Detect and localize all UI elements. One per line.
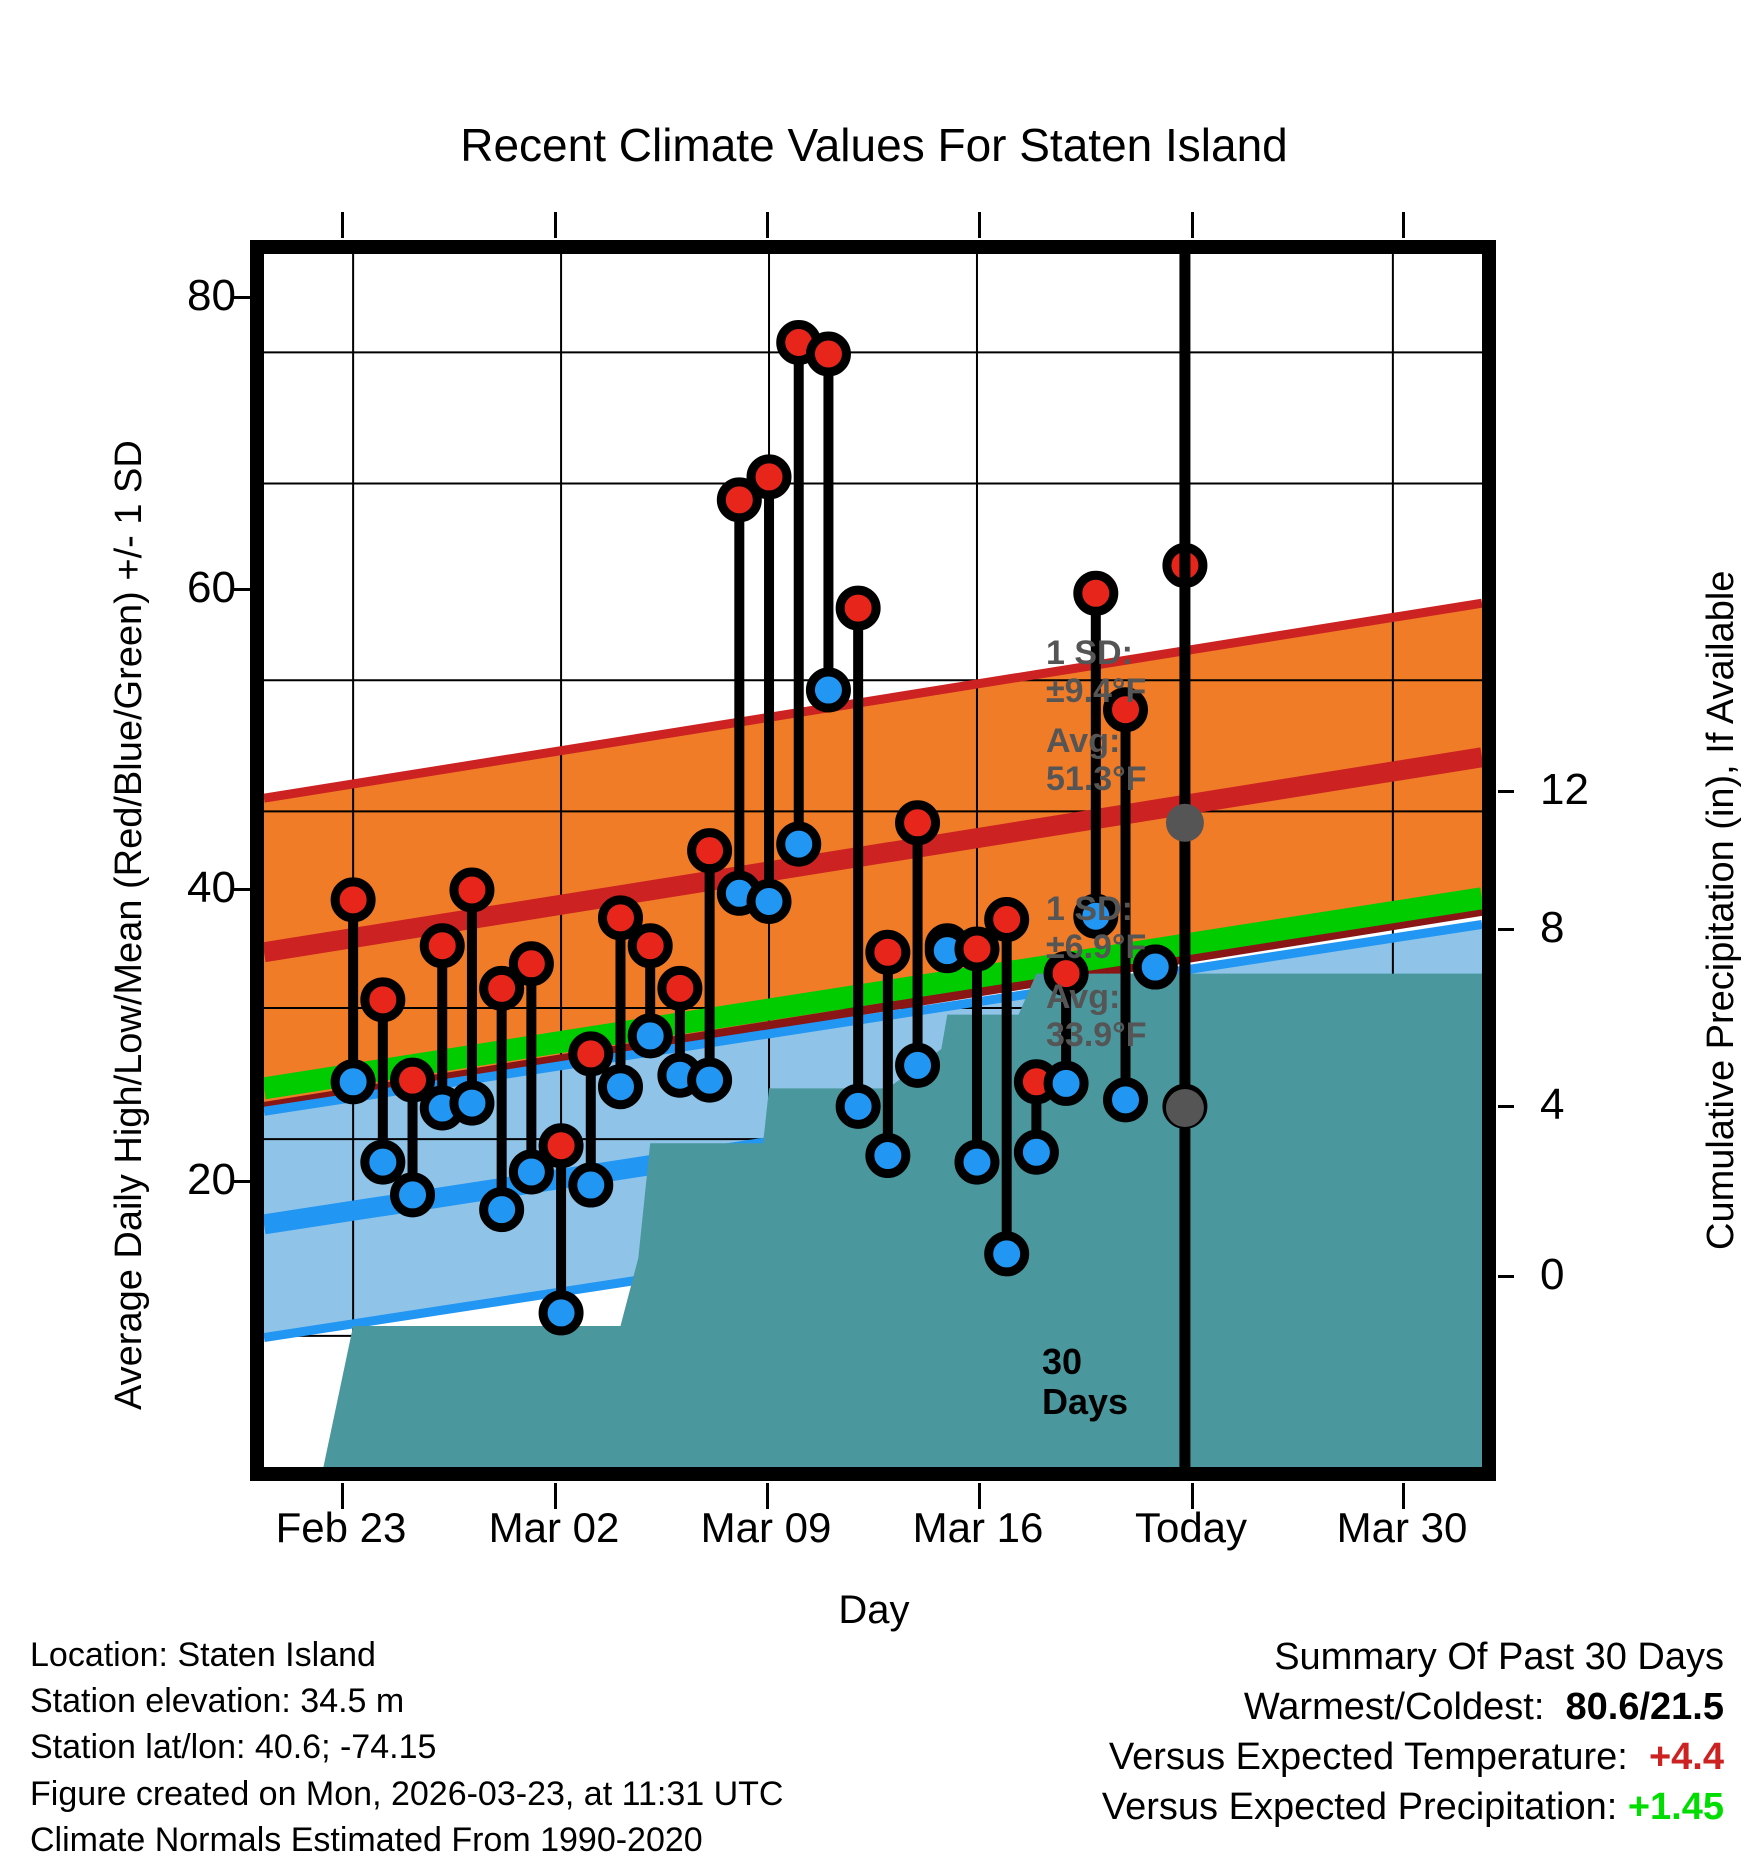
tick-mark-bottom-mar-30 [1402, 1483, 1405, 1509]
climate-normals: Climate Normals Estimated From 1990-2020 [30, 1817, 783, 1863]
low-avg-annotation: Avg: 33.9°F [1046, 978, 1147, 1054]
low-sd-annotation: 1 SD: ±6.9°F [1046, 890, 1146, 966]
high-avg-label: Avg: [1046, 722, 1120, 760]
summary-extremes-value: 80.6/21.5 [1566, 1686, 1724, 1728]
high-avg-annotation: Avg: 51.3°F [1046, 722, 1147, 798]
y-tick-right-0: 0 [1540, 1250, 1564, 1300]
summary-extremes-row: Warmest/Coldest: 80.6/21.5 [1102, 1682, 1724, 1732]
tick-mark-bottom-feb-23 [341, 1483, 344, 1509]
summary-precip-label: Versus Expected Precipitation: [1102, 1786, 1617, 1828]
tick-mark-left-40 [234, 888, 250, 891]
station-info-block: Location: Staten Island Station elevatio… [30, 1632, 783, 1863]
tick-mark-top-today [1191, 212, 1194, 238]
summary-heading: Summary Of Past 30 Days [1102, 1632, 1724, 1682]
window-label-line2: Days [1042, 1381, 1128, 1422]
tick-mark-top-mar-09 [766, 212, 769, 238]
tick-mark-top-mar-02 [554, 212, 557, 238]
station-location: Location: Staten Island [30, 1632, 783, 1678]
y-tick-left-80: 80 [187, 271, 236, 321]
x-tick-mar-02: Mar 02 [489, 1504, 620, 1552]
tick-mark-bottom-mar-16 [978, 1483, 981, 1509]
y-tick-left-20: 20 [187, 1155, 236, 1205]
tick-mark-left-80 [234, 296, 250, 299]
station-elevation: Station elevation: 34.5 m [30, 1678, 783, 1724]
figure-canvas: Recent Climate Values For Staten Island … [0, 0, 1748, 1828]
summary-precip-row: Versus Expected Precipitation: +1.45 [1102, 1782, 1724, 1832]
summary-temp-row: Versus Expected Temperature: +4.4 [1102, 1732, 1724, 1782]
tick-mark-left-20 [234, 1180, 250, 1183]
tick-mark-right-0 [1498, 1275, 1514, 1278]
summary-temp-value: +4.4 [1649, 1736, 1724, 1778]
y-tick-left-60: 60 [187, 563, 236, 613]
tick-mark-right-4 [1498, 1105, 1514, 1108]
chart-title: Recent Climate Values For Staten Island [0, 118, 1748, 172]
plot-area: 1 SD: ±9.4°F Avg: 51.3°F 1 SD: ±6.9°F Av… [250, 240, 1496, 1481]
summary-extremes-label: Warmest/Coldest: [1244, 1686, 1545, 1728]
summary-block: Summary Of Past 30 Days Warmest/Coldest:… [1102, 1632, 1724, 1833]
high-sd-value: ±9.4°F [1046, 672, 1146, 710]
x-tick-mar-09: Mar 09 [701, 1504, 832, 1552]
low-avg-label: Avg: [1046, 978, 1120, 1016]
x-tick-feb-23: Feb 23 [276, 1504, 407, 1552]
y-axis-label-left: Average Daily High/Low/Mean (Red/Blue/Gr… [108, 440, 151, 1410]
high-avg-value: 51.3°F [1046, 760, 1147, 798]
summary-precip-value: +1.45 [1628, 1786, 1724, 1828]
x-tick-mar-16: Mar 16 [913, 1504, 1044, 1552]
window-annotation: 30 Days [1042, 1342, 1128, 1421]
tick-mark-top-mar-30 [1402, 212, 1405, 238]
tick-mark-top-mar-16 [978, 212, 981, 238]
tick-mark-bottom-mar-09 [766, 1483, 769, 1509]
station-latlon: Station lat/lon: 40.6; -74.15 [30, 1724, 783, 1770]
high-sd-label: 1 SD: [1046, 634, 1133, 672]
y-tick-right-12: 12 [1540, 765, 1589, 815]
tick-mark-top-feb-23 [341, 212, 344, 238]
low-sd-value: ±6.9°F [1046, 928, 1146, 966]
low-avg-value: 33.9°F [1046, 1016, 1147, 1054]
plot-graphics [264, 254, 1482, 1467]
tick-mark-right-12 [1498, 790, 1514, 793]
y-axis-label-right: Cumulative Precipitation (in), If Availa… [1700, 571, 1743, 1250]
low-sd-label: 1 SD: [1046, 890, 1133, 928]
window-label-line1: 30 [1042, 1341, 1082, 1382]
tick-mark-bottom-mar-02 [554, 1483, 557, 1509]
tick-mark-left-60 [234, 588, 250, 591]
y-tick-right-8: 8 [1540, 903, 1564, 953]
figure-created: Figure created on Mon, 2026-03-23, at 11… [30, 1771, 783, 1817]
high-sd-annotation: 1 SD: ±9.4°F [1046, 634, 1146, 710]
x-axis-label: Day [0, 1588, 1748, 1633]
y-tick-left-40: 40 [187, 863, 236, 913]
tick-mark-right-8 [1498, 928, 1514, 931]
y-tick-right-4: 4 [1540, 1080, 1564, 1130]
x-tick-mar-30: Mar 30 [1337, 1504, 1468, 1552]
x-tick-today: Today [1135, 1504, 1247, 1552]
tick-mark-bottom-today [1191, 1483, 1194, 1509]
summary-temp-label: Versus Expected Temperature: [1109, 1736, 1628, 1778]
